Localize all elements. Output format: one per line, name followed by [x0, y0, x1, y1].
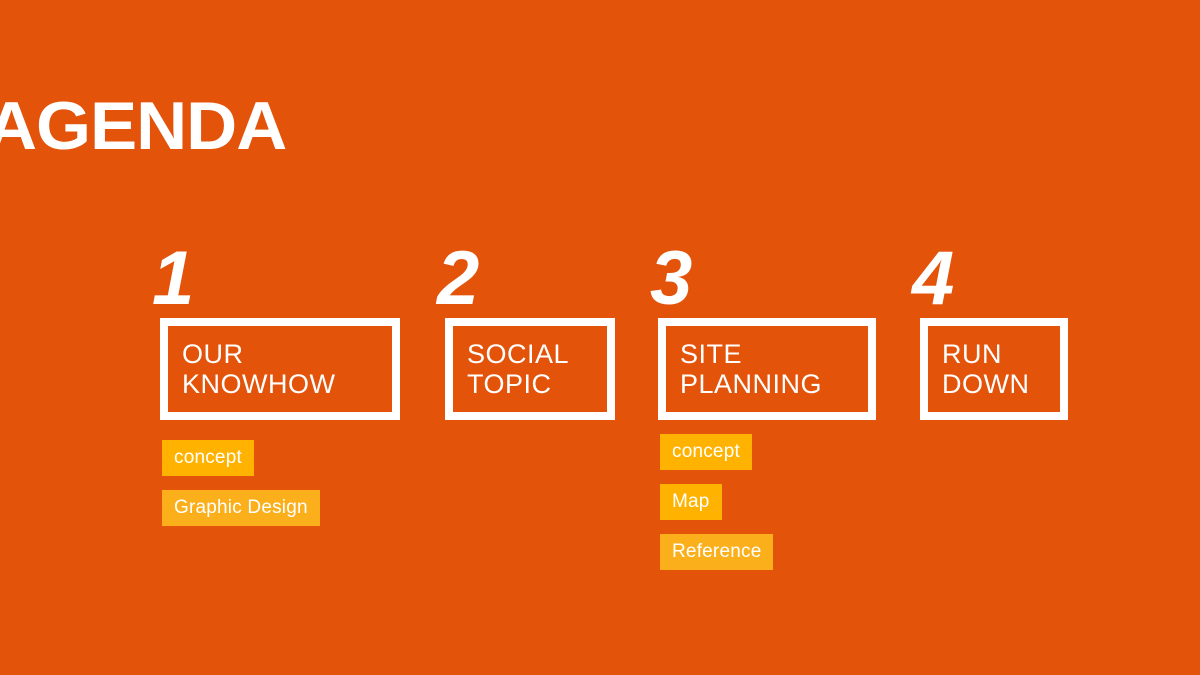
agenda-item-1-number: 1	[152, 248, 192, 310]
agenda-item-4-label: RUN DOWN	[928, 339, 1029, 399]
agenda-item-4-number: 4	[912, 248, 952, 310]
tag-chip[interactable]: concept	[660, 434, 752, 470]
agenda-item-1-box: OUR KNOWHOW	[160, 318, 400, 420]
agenda-item-1-tags: concept Graphic Design	[162, 440, 320, 526]
agenda-item-3-box: SITE PLANNING	[658, 318, 876, 420]
agenda-item-3-number: 3	[650, 248, 690, 310]
tag-chip[interactable]: Reference	[660, 534, 773, 570]
agenda-slide: AGENDA 1 OUR KNOWHOW concept Graphic Des…	[0, 0, 1200, 675]
tag-chip[interactable]: Graphic Design	[162, 490, 320, 526]
agenda-item-1-label: OUR KNOWHOW	[168, 339, 335, 399]
agenda-item-4-box: RUN DOWN	[920, 318, 1068, 420]
agenda-item-2-number: 2	[437, 248, 477, 310]
agenda-item-3-label: SITE PLANNING	[666, 339, 822, 399]
tag-chip[interactable]: Map	[660, 484, 722, 520]
tag-chip[interactable]: concept	[162, 440, 254, 476]
agenda-item-3-tags: concept Map Reference	[660, 434, 773, 570]
agenda-item-2-label: SOCIAL TOPIC	[453, 339, 569, 399]
agenda-item-2-box: SOCIAL TOPIC	[445, 318, 615, 420]
agenda-item-list: 1 OUR KNOWHOW concept Graphic Design 2 S…	[0, 0, 1200, 675]
